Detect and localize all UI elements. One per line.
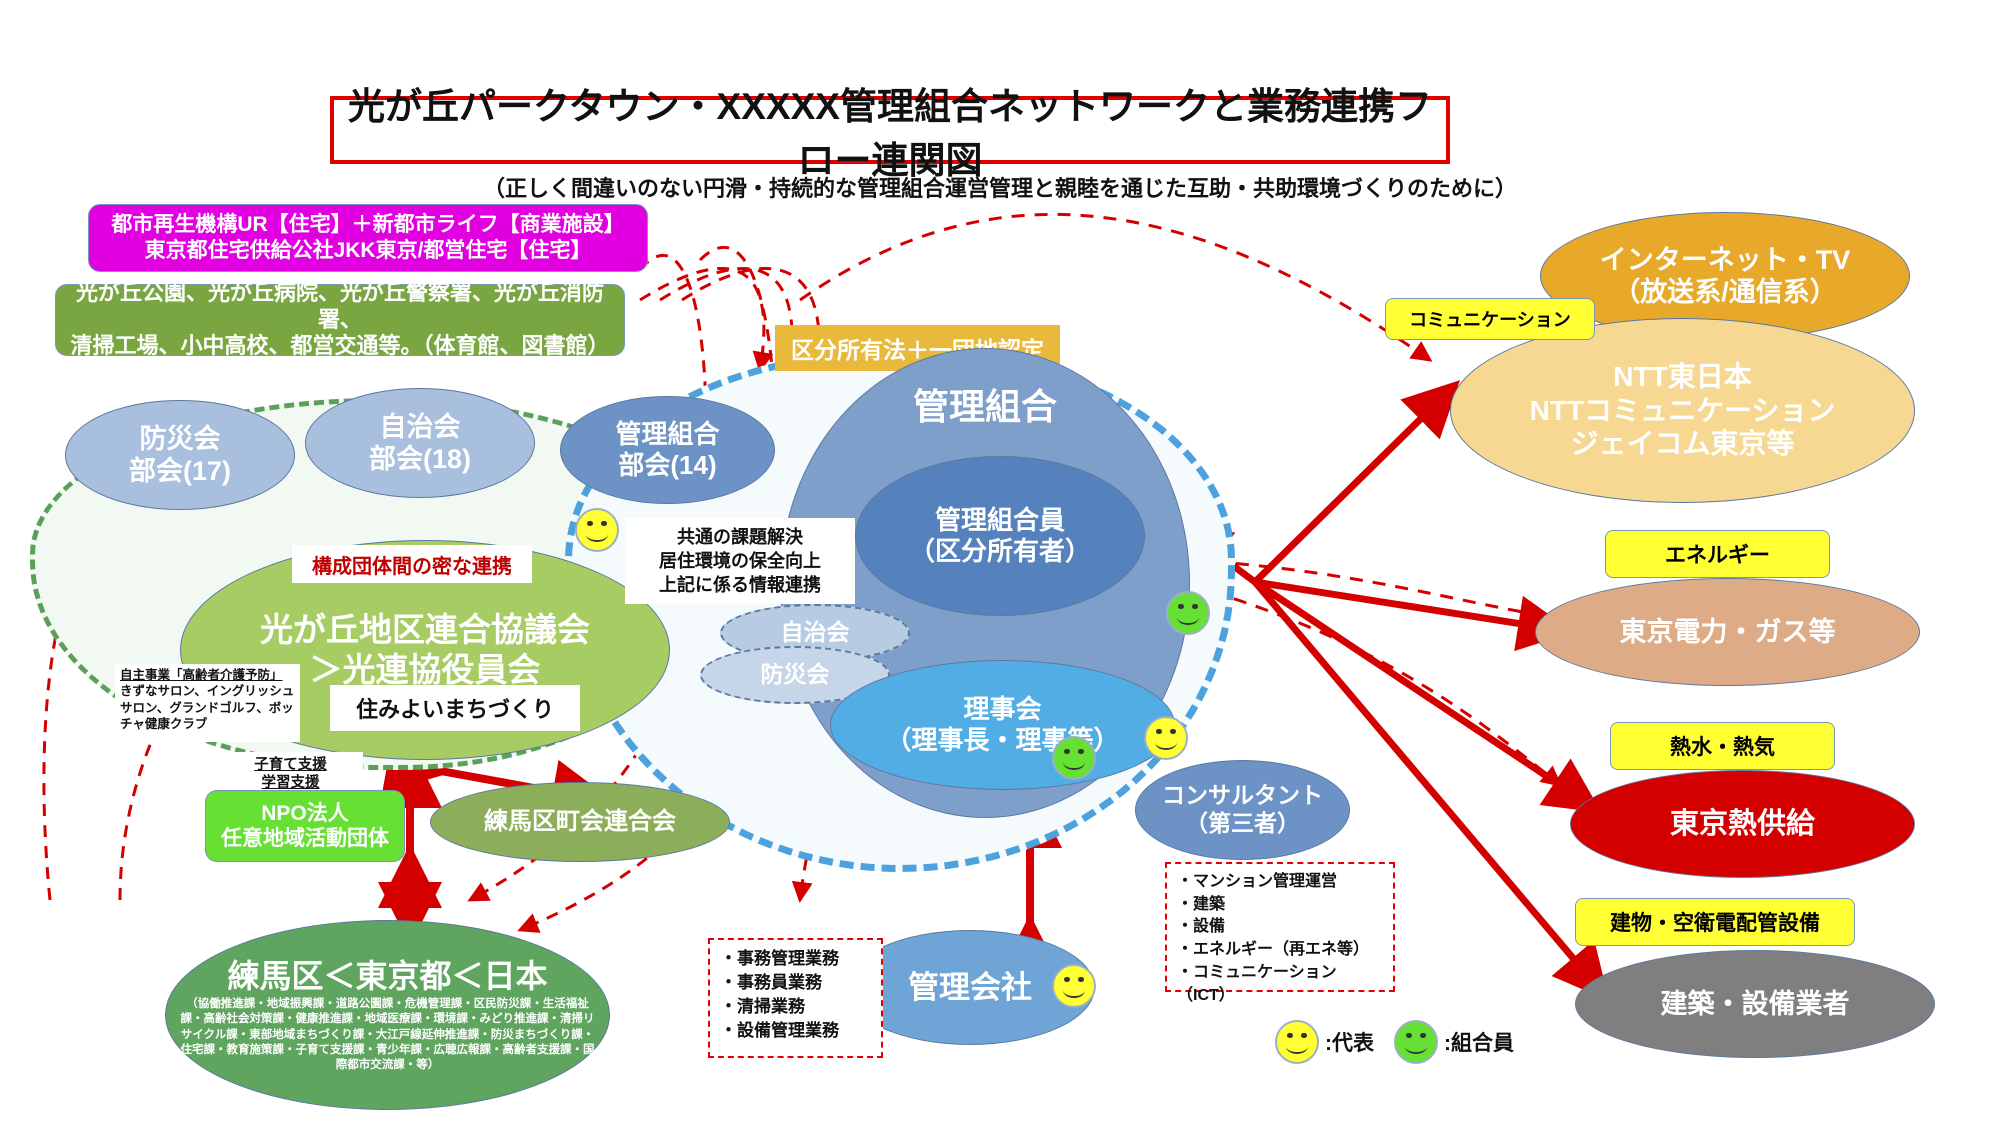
facilities-line-1: 光が丘公園、光が丘病院、光が丘警察署、光が丘消防署、	[56, 280, 624, 334]
consultant-line-2: （第三者）	[1162, 810, 1323, 838]
kourenkyo-line-1: 光が丘地区連合協議会	[260, 610, 590, 650]
smiley-member-icon	[1166, 591, 1210, 635]
legend-rep-icon	[1275, 1020, 1319, 1064]
sumiyoi-callout: 住みよいまちづくり	[330, 685, 580, 731]
page-title: 光が丘パークタウン・XXXXX管理組合ネットワークと業務連携フロー連関図	[330, 96, 1450, 164]
kanri-kumiai-bukai-ellipse: 管理組合 部会(14)	[560, 396, 775, 504]
list-item: ・事務員業務	[720, 971, 871, 995]
list-item: ・建築	[1177, 894, 1383, 917]
list-item: ・設備	[1177, 916, 1383, 939]
kyotsu-kadai-callout: 共通の課題解決 居住環境の保全向上 上記に係る情報連携	[625, 518, 855, 604]
kourenkyo-line-2: ＞光連協役員会	[310, 650, 541, 690]
npo-block: NPO法人 任意地域活動団体	[205, 790, 405, 862]
nerima-japan-body: （協働推進課・地域振興課・道路公園課・危機管理課・区民防災課・生活福祉課・高齢社…	[166, 997, 609, 1073]
smiley-rep-icon	[1144, 716, 1188, 760]
tokyo-netsu-kyokyu-ellipse: 東京熱供給	[1570, 770, 1915, 878]
diagram-canvas: 光が丘パークタウン・XXXXX管理組合ネットワークと業務連携フロー連関図 （正し…	[0, 0, 2000, 1125]
consultant-line-1: コンサルタント	[1162, 782, 1323, 810]
ur-jkk-block: 都市再生機構UR【住宅】＋新都市ライフ【商業施設】 東京都住宅供給公社JKK東京…	[88, 204, 648, 272]
ur-line-2: 東京都住宅供給公社JKK東京/都営住宅【住宅】	[111, 238, 624, 264]
list-item: ・清掃業務	[720, 995, 871, 1019]
nerima-chokai-ellipse: 練馬区町会連合会	[430, 782, 730, 862]
npo-line-1: NPO法人	[221, 801, 389, 826]
ntt-line-2: NTTコミュニケーション	[1530, 394, 1836, 428]
tag-communication: コミュニケーション	[1385, 298, 1595, 340]
kyotsu-line-1: 共通の課題解決	[677, 525, 803, 549]
kumiai-in-ellipse: 管理組合員 （区分所有者）	[855, 456, 1145, 616]
rijikai-line-1: 理事会	[885, 694, 1119, 725]
gyomu-list-box: ・事務管理業務 ・事務員業務 ・清掃業務 ・設備管理業務	[708, 938, 883, 1058]
jichikai-bukai-ellipse: 自治会 部会(18)	[305, 388, 535, 498]
nerima-tokyo-japan-ellipse: 練馬区＜東京都＜日本 （協働推進課・地域振興課・道路公園課・危機管理課・区民防災…	[165, 920, 610, 1110]
facilities-line-2: 清掃工場、小中高校、都営交通等。（体育館、図書館）	[56, 333, 624, 360]
tag-hot-water: 熱水・熱気	[1610, 722, 1835, 770]
npo-line-2: 任意地域活動団体	[221, 826, 389, 851]
page-subtitle: （正しく間違いのない円滑・持続的な管理組合運営管理と親睦を通じた互助・共助環境づ…	[300, 170, 1700, 204]
kanri-bukai-line-2: 部会(14)	[615, 450, 719, 481]
public-facilities-block: 光が丘公園、光が丘病院、光が丘警察署、光が丘消防署、 清掃工場、小中高校、都営交…	[55, 284, 625, 356]
legend-member-label: :組合員	[1444, 1027, 1514, 1057]
ntt-line-1: NTT東日本	[1530, 360, 1836, 394]
consultant-ellipse: コンサルタント （第三者）	[1135, 760, 1350, 860]
kumiai-in-line-2: （区分所有者）	[909, 536, 1091, 567]
kyotsu-line-2: 居住環境の保全向上	[659, 549, 821, 573]
jichikai-bukai-line-2: 部会(18)	[369, 443, 471, 475]
tag-energy: エネルギー	[1605, 530, 1830, 578]
smiley-rep-icon	[575, 508, 619, 552]
list-item: ・マンション管理運営	[1177, 871, 1383, 894]
kanri-bukai-line-1: 管理組合	[615, 419, 719, 450]
smiley-rep-icon	[1052, 964, 1096, 1008]
internet-tv-line-1: インターネット・TV	[1600, 244, 1851, 276]
list-item: ・事務管理業務	[720, 947, 871, 971]
kosodate-line-1: 子育て支援	[254, 756, 327, 774]
legend-rep-label: :代表	[1325, 1027, 1374, 1057]
tag-building-equipment: 建物・空衛電配管設備	[1575, 898, 1855, 946]
bosai-bukai-line-2: 部会(17)	[129, 455, 231, 487]
renkei-callout: 構成団体間の密な連携	[292, 545, 532, 583]
jichikai-bukai-line-1: 自治会	[369, 411, 471, 443]
nerima-japan-head: 練馬区＜東京都＜日本	[227, 957, 547, 995]
ntt-carriers-ellipse: NTT東日本 NTTコミュニケーション ジェイコム東京等	[1450, 318, 1915, 503]
legend: :代表 :組合員	[1275, 1020, 1565, 1064]
ntt-line-3: ジェイコム東京等	[1530, 427, 1836, 461]
bosai-bukai-ellipse: 防災会 部会(17)	[65, 400, 295, 510]
smiley-member-icon	[1052, 736, 1096, 780]
bosai-bukai-line-1: 防災会	[129, 423, 231, 455]
kumiai-in-line-1: 管理組合員	[909, 505, 1091, 536]
kyotsu-line-3: 上記に係る情報連携	[659, 573, 821, 597]
ur-line-1: 都市再生機構UR【住宅】＋新都市ライフ【商業施設】	[111, 212, 624, 238]
legend-member-icon	[1394, 1020, 1438, 1064]
list-item: ・エネルギー（再エネ等）	[1177, 939, 1383, 962]
jishu-head: 自主事業「高齢者介護予防」	[120, 667, 295, 683]
kenchiku-setsubi-gyosha-ellipse: 建築・設備業者	[1575, 950, 1935, 1058]
internet-tv-line-2: （放送系/通信系）	[1600, 276, 1851, 308]
kanri-kumiai-label: 管理組合	[913, 385, 1057, 428]
jishu-jigyo-note: 自主事業「高齢者介護予防」 きずなサロン、イングリッシュサロン、グランドゴルフ、…	[115, 664, 300, 742]
denryoku-gas-ellipse: 東京電力・ガス等	[1535, 578, 1920, 686]
jishu-body: きずなサロン、イングリッシュサロン、グランドゴルフ、ボッチャ健康クラブ	[120, 683, 295, 732]
rijikai-ellipse: 理事会 （理事長・理事等）	[830, 660, 1175, 790]
mansion-scope-list-box: ・マンション管理運営 ・建築 ・設備 ・エネルギー（再エネ等） ・コミュニケーシ…	[1165, 862, 1395, 992]
list-item: ・コミュニケーション（ICT）	[1177, 962, 1383, 1007]
list-item: ・設備管理業務	[720, 1019, 871, 1043]
